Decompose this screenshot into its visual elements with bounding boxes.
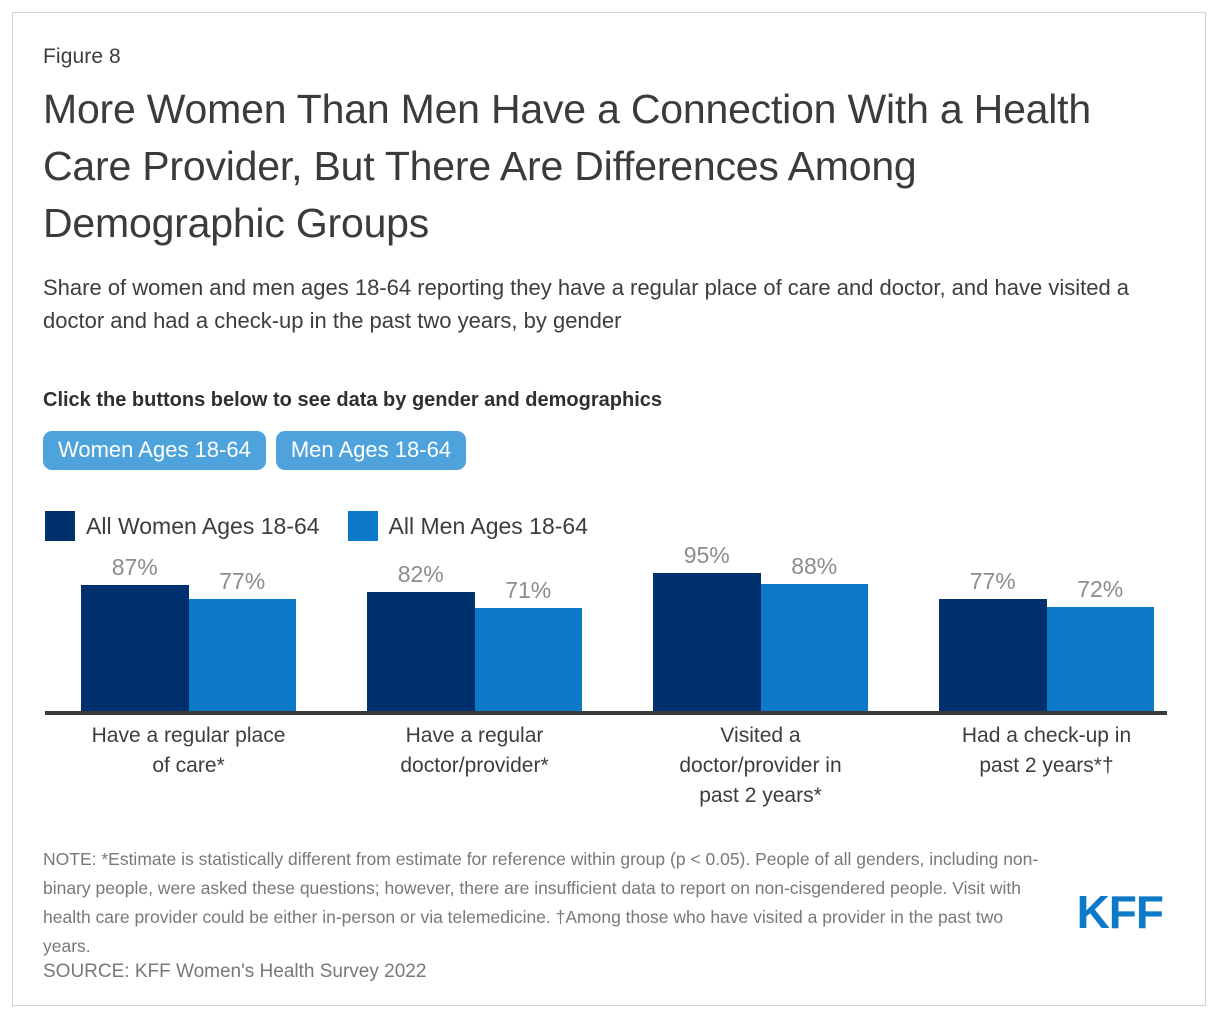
category-label-line: doctor/provider* bbox=[337, 751, 612, 781]
controls-instruction: Click the buttons below to see data by g… bbox=[43, 389, 662, 412]
legend-item-all-men: All Men Ages 18-64 bbox=[348, 511, 588, 541]
legend-swatch-icon-women bbox=[45, 511, 75, 541]
bar-rect bbox=[367, 592, 475, 711]
chart-legend: All Women Ages 18-64 All Men Ages 18-64 bbox=[45, 511, 602, 541]
chart-note: NOTE: *Estimate is statistically differe… bbox=[43, 845, 1053, 961]
bar-rect bbox=[761, 584, 869, 712]
bar-rect bbox=[1047, 607, 1155, 711]
category-label: Have a regular placeof care* bbox=[51, 721, 326, 781]
bar-value-label: 72% bbox=[1035, 576, 1167, 603]
category-label-line: past 2 years* bbox=[623, 781, 898, 811]
grouped-bar-chart: 87%77%82%71%95%88%77%72% Have a regular … bbox=[45, 573, 1175, 823]
category-label-line: doctor/provider in bbox=[623, 751, 898, 781]
legend-label-women: All Women Ages 18-64 bbox=[86, 513, 320, 540]
category-label-line: Had a check-up in bbox=[909, 721, 1184, 751]
chart-source: SOURCE: KFF Women's Health Survey 2022 bbox=[43, 961, 426, 983]
bar-value-label: 77% bbox=[177, 568, 309, 595]
figure-number: Figure 8 bbox=[43, 45, 121, 69]
legend-swatch-icon-men bbox=[348, 511, 378, 541]
legend-item-all-women: All Women Ages 18-64 bbox=[45, 511, 320, 541]
category-label-line: Have a regular bbox=[337, 721, 612, 751]
bar-value-label: 71% bbox=[463, 577, 595, 604]
bar-rect bbox=[189, 599, 297, 711]
category-label-line: of care* bbox=[51, 751, 326, 781]
bar-value-label: 88% bbox=[749, 553, 881, 580]
bar-rect bbox=[81, 585, 189, 711]
bar-rect bbox=[939, 599, 1047, 711]
kff-logo: KFF bbox=[1077, 885, 1163, 939]
category-label-line: past 2 years*† bbox=[909, 751, 1184, 781]
bar-group: 95%88% bbox=[653, 573, 868, 711]
figure-subtitle: Share of women and men ages 18-64 report… bbox=[43, 271, 1133, 337]
button-women-ages-18-64[interactable]: Women Ages 18-64 bbox=[43, 431, 266, 470]
category-label: Visited adoctor/provider inpast 2 years* bbox=[623, 721, 898, 811]
category-label: Had a check-up inpast 2 years*† bbox=[909, 721, 1184, 781]
bar-rect bbox=[475, 608, 583, 711]
bar-group: 82%71% bbox=[367, 573, 582, 711]
figure-card: Figure 8 More Women Than Men Have a Conn… bbox=[12, 12, 1206, 1006]
bar-group-bars: 87%77% bbox=[81, 573, 296, 711]
category-label: Have a regulardoctor/provider* bbox=[337, 721, 612, 781]
bar-group-bars: 95%88% bbox=[653, 573, 868, 711]
page-title: More Women Than Men Have a Connection Wi… bbox=[43, 81, 1153, 252]
bar-group: 77%72% bbox=[939, 573, 1154, 711]
button-men-ages-18-64[interactable]: Men Ages 18-64 bbox=[276, 431, 466, 470]
category-label-line: Have a regular place bbox=[51, 721, 326, 751]
x-axis-line bbox=[45, 711, 1167, 715]
category-label-line: Visited a bbox=[623, 721, 898, 751]
demographic-button-group: Women Ages 18-64 Men Ages 18-64 bbox=[43, 431, 466, 470]
bar-group: 87%77% bbox=[81, 573, 296, 711]
bar-rect bbox=[653, 573, 761, 711]
chart-plot-area: 87%77%82%71%95%88%77%72% bbox=[45, 573, 1175, 711]
bar-group-bars: 77%72% bbox=[939, 573, 1154, 711]
bar-group-bars: 82%71% bbox=[367, 573, 582, 711]
legend-label-men: All Men Ages 18-64 bbox=[389, 513, 588, 540]
